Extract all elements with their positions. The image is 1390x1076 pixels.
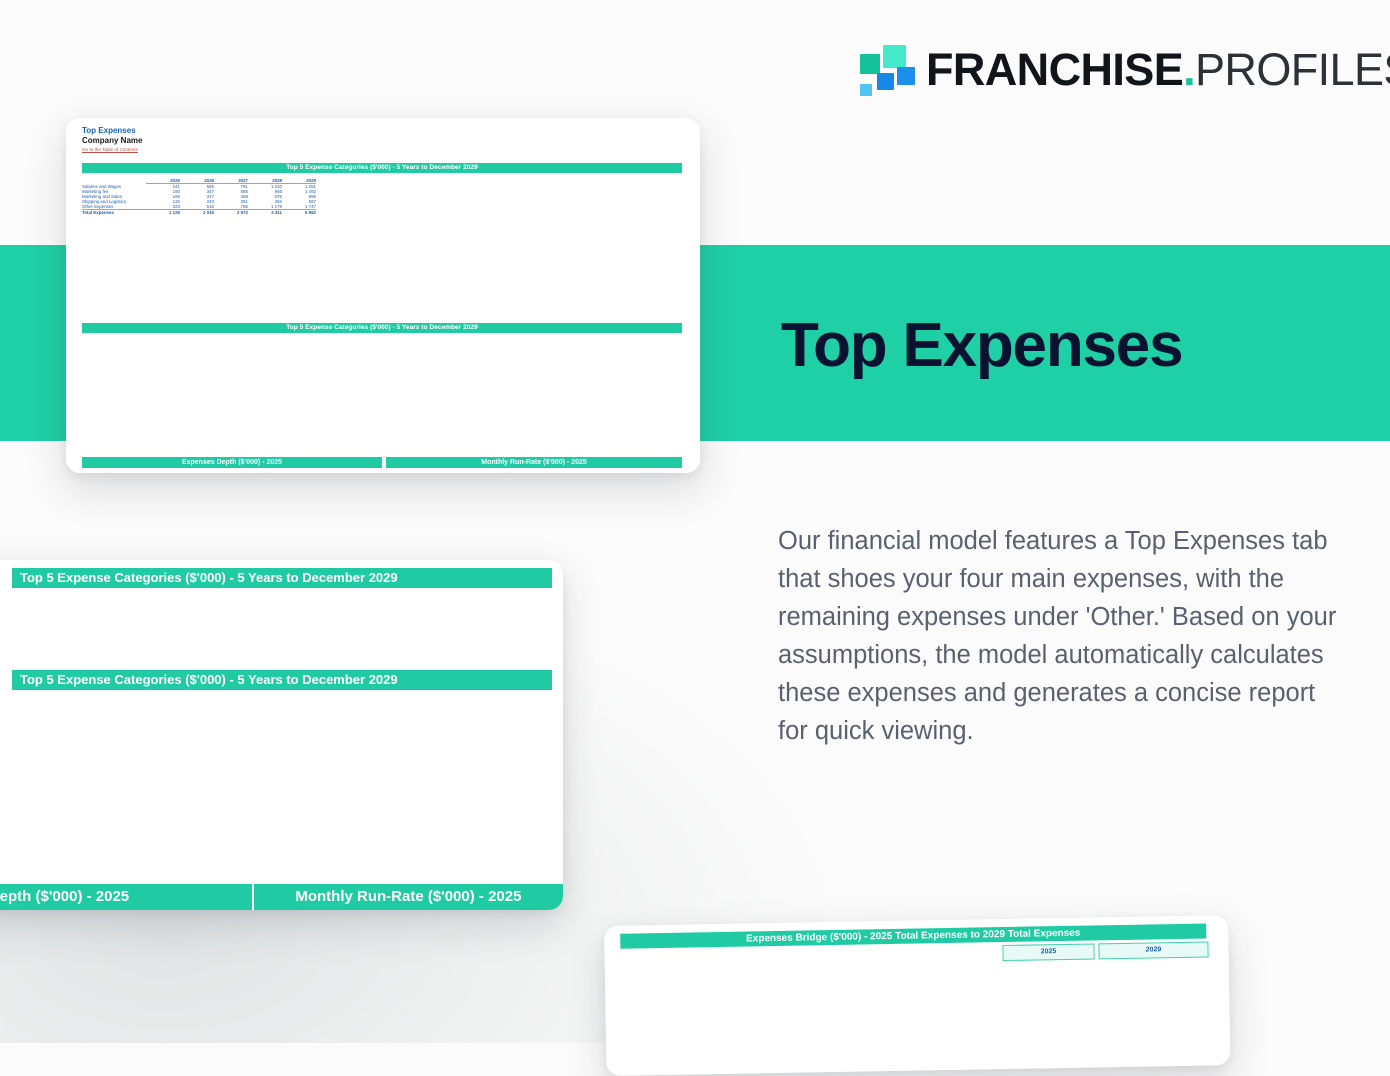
banner-top-5-expenses: Top 5 Expense Categories ($'000) - 5 Yea… — [82, 163, 682, 173]
toc-link[interactable]: Go to the Table of Contents — [82, 146, 142, 154]
sheet-header: Top Expenses Company Name Go to the Tabl… — [82, 126, 142, 154]
bridge-year-selector-2025[interactable]: 2025 — [1002, 943, 1094, 961]
brand-dot: . — [1183, 44, 1195, 95]
banner-monthly-run-rate-bottom: Monthly Run-Rate ($'000) - 2025 — [252, 884, 563, 910]
screenshot-card-categories: Top 5 Expense Categories ($'000) - 5 Yea… — [0, 560, 563, 910]
brand-name-bold: FRANCHISE — [926, 44, 1183, 95]
brand-logo: FRANCHISE.PROFILES — [852, 40, 1390, 98]
logo-squares-icon — [852, 40, 908, 98]
banner-categories-table: Top 5 Expense Categories ($'000) - 5 Yea… — [12, 568, 552, 588]
brand-name-light: PROFILES — [1195, 44, 1390, 95]
waterfall-plot — [619, 961, 1209, 1071]
brand-wordmark: FRANCHISE.PROFILES — [926, 47, 1390, 92]
screenshot-card-dashboard: Top Expenses Company Name Go to the Tabl… — [66, 118, 700, 473]
chart-monthly-run-rate-pie — [386, 470, 678, 473]
banner-monthly-run-rate: Monthly Run-Rate ($'000) - 2025 — [386, 457, 682, 468]
expense-table: 20252026202720282029Salaries and Wages24… — [82, 178, 316, 215]
page-title: Top Expenses — [781, 310, 1182, 381]
banner-expenses-depth-bottom: Expenses Depth ($'000) - 2025 — [0, 884, 254, 910]
banner-top-5-expenses-chart: Top 5 Expense Categories ($'000) - 5 Yea… — [82, 323, 682, 333]
sheet-title: Top Expenses — [82, 126, 142, 136]
description-paragraph: Our financial model features a Top Expen… — [778, 522, 1338, 750]
sheet-company: Company Name — [82, 136, 142, 146]
chart-stacked-100-top — [90, 336, 430, 448]
chart-line-bottom — [388, 700, 538, 870]
screenshot-card-expenses-bridge: Expenses Bridge ($'000) - 2025 Total Exp… — [604, 915, 1231, 1076]
table-total-row: Total Expenses1 1292 0192 9724 3115 982 — [82, 210, 316, 216]
banner-expenses-depth: Expenses Depth ($'000) - 2025 — [82, 457, 382, 468]
bridge-year-selector-2029[interactable]: 2029 — [1098, 941, 1208, 959]
footer-banners: Expenses Depth ($'000) - 2025 Monthly Ru… — [0, 884, 563, 910]
chart-stacked-bottom — [12, 696, 256, 876]
chart-line-top — [546, 336, 674, 448]
banner-categories-chart: Top 5 Expense Categories ($'000) - 5 Yea… — [12, 670, 552, 690]
